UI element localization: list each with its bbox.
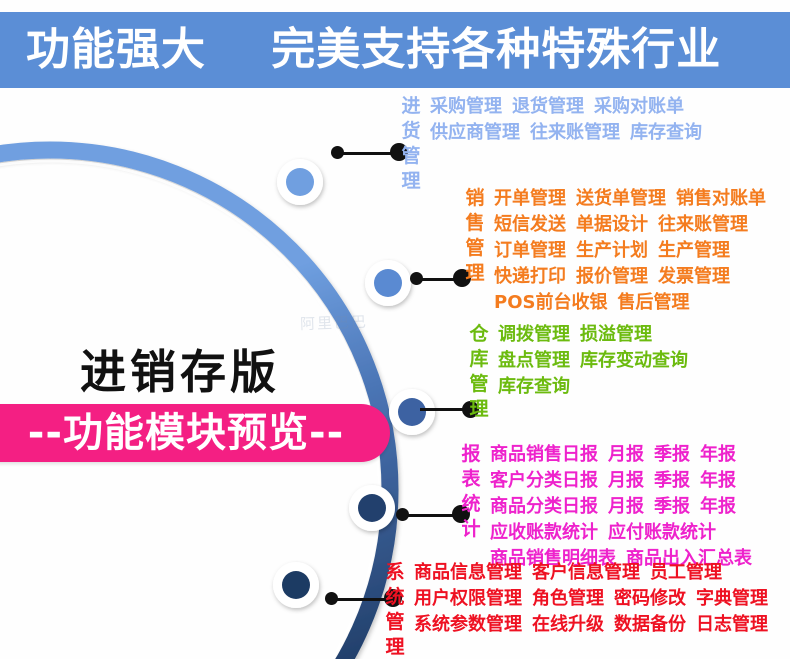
module-item[interactable]: 快递打印 <box>494 266 566 287</box>
module-row: 系统参数管理在线升级数据备份日志管理 <box>414 612 768 638</box>
module-item[interactable]: 售后管理 <box>617 292 689 313</box>
module-item[interactable]: 应收账款统计 <box>490 522 598 543</box>
module-row: 采购管理退货管理采购对账单 <box>430 94 702 120</box>
module-item[interactable]: 采购管理 <box>430 96 502 117</box>
module-item[interactable]: 开单管理 <box>494 188 566 209</box>
module-item[interactable]: 库存查询 <box>630 122 702 143</box>
module-item[interactable]: 在线升级 <box>532 614 604 635</box>
module-row: 用户权限管理角色管理密码修改字典管理 <box>414 586 768 612</box>
module-item[interactable]: 生产计划 <box>576 240 648 261</box>
module-items-reports: 商品销售日报月报季报年报客户分类日报月报季报年报商品分类日报月报季报年报应收账款… <box>490 442 752 572</box>
module-row: 客户分类日报月报季报年报 <box>490 468 752 494</box>
module-row: 调拨管理损溢管理 <box>498 322 688 348</box>
module-item[interactable]: 采购对账单 <box>594 96 684 117</box>
module-item[interactable]: 字典管理 <box>696 588 768 609</box>
module-row: 库存查询 <box>498 374 688 400</box>
module-item[interactable]: 销售对账单 <box>676 188 766 209</box>
module-items-sales: 开单管理送货单管理销售对账单短信发送单据设计往来账管理订单管理生产计划生产管理快… <box>494 186 766 316</box>
preview-band-label: --功能模块预览-- <box>0 411 398 455</box>
module-items-purchase: 采购管理退货管理采购对账单供应商管理往来账管理库存查询 <box>430 94 702 146</box>
module-item[interactable]: 系统参数管理 <box>414 614 522 635</box>
module-item[interactable]: 报价管理 <box>576 266 648 287</box>
module-item[interactable]: 应付账款统计 <box>608 522 716 543</box>
module-item[interactable]: 客户信息管理 <box>532 562 640 583</box>
module-item[interactable]: 年报 <box>700 470 736 491</box>
module-row: 供应商管理往来账管理库存查询 <box>430 120 702 146</box>
module-item[interactable]: 数据备份 <box>614 614 686 635</box>
module-item[interactable]: 供应商管理 <box>430 122 520 143</box>
module-item[interactable]: 短信发送 <box>494 214 566 235</box>
module-label-system: 系 统 管 理 <box>382 560 408 659</box>
module-row: 商品分类日报月报季报年报 <box>490 494 752 520</box>
module-group-sales: 销 售 管 理开单管理送货单管理销售对账单短信发送单据设计往来账管理订单管理生产… <box>462 186 766 316</box>
module-item[interactable]: 季报 <box>654 496 690 517</box>
module-item[interactable]: 库存查询 <box>498 376 570 397</box>
module-item[interactable]: 季报 <box>654 470 690 491</box>
module-item[interactable]: 盘点管理 <box>498 350 570 371</box>
module-item[interactable]: 年报 <box>700 496 736 517</box>
module-group-reports: 报 表 统 计商品销售日报月报季报年报客户分类日报月报季报年报商品分类日报月报季… <box>458 442 752 572</box>
module-items-system: 商品信息管理客户信息管理员工管理用户权限管理角色管理密码修改字典管理系统参数管理… <box>414 560 768 638</box>
module-item[interactable]: 库存变动查询 <box>580 350 688 371</box>
module-item[interactable]: 日志管理 <box>696 614 768 635</box>
product-title: 进销存版 <box>80 336 280 402</box>
module-row: 盘点管理库存变动查询 <box>498 348 688 374</box>
module-group-warehouse: 仓 库 管 理调拨管理损溢管理盘点管理库存变动查询库存查询 <box>466 322 688 422</box>
module-row: 商品信息管理客户信息管理员工管理 <box>414 560 768 586</box>
module-item[interactable]: 送货单管理 <box>576 188 666 209</box>
module-item[interactable]: 年报 <box>700 444 736 465</box>
module-item[interactable]: 调拨管理 <box>498 324 570 345</box>
module-item[interactable]: 密码修改 <box>614 588 686 609</box>
poster-canvas: 功能强大 完美支持各种特殊行业 <box>0 0 790 659</box>
module-item[interactable]: 退货管理 <box>512 96 584 117</box>
module-item[interactable]: 单据设计 <box>576 214 648 235</box>
module-item[interactable]: 往来账管理 <box>530 122 620 143</box>
module-item[interactable]: 角色管理 <box>532 588 604 609</box>
module-item[interactable]: 生产管理 <box>658 240 730 261</box>
module-item[interactable]: POS前台收银 <box>494 292 607 313</box>
module-item[interactable]: 发票管理 <box>658 266 730 287</box>
module-group-system: 系 统 管 理商品信息管理客户信息管理员工管理用户权限管理角色管理密码修改字典管… <box>382 560 768 659</box>
module-row: POS前台收银售后管理 <box>494 290 766 316</box>
module-row: 应收账款统计应付账款统计 <box>490 520 752 546</box>
module-item[interactable]: 往来账管理 <box>658 214 748 235</box>
module-item[interactable]: 损溢管理 <box>580 324 652 345</box>
module-item[interactable]: 商品销售日报 <box>490 444 598 465</box>
module-items-warehouse: 调拨管理损溢管理盘点管理库存变动查询库存查询 <box>498 322 688 400</box>
module-item[interactable]: 订单管理 <box>494 240 566 261</box>
module-item[interactable]: 用户权限管理 <box>414 588 522 609</box>
module-label-purchase: 进 货 管 理 <box>398 94 424 194</box>
module-row: 订单管理生产计划生产管理 <box>494 238 766 264</box>
module-row: 开单管理送货单管理销售对账单 <box>494 186 766 212</box>
module-item[interactable]: 客户分类日报 <box>490 470 598 491</box>
module-item[interactable]: 商品信息管理 <box>414 562 522 583</box>
module-item[interactable]: 月报 <box>608 496 644 517</box>
module-label-warehouse: 仓 库 管 理 <box>466 322 492 422</box>
module-row: 快递打印报价管理发票管理 <box>494 264 766 290</box>
module-item[interactable]: 季报 <box>654 444 690 465</box>
module-label-reports: 报 表 统 计 <box>458 442 484 542</box>
module-item[interactable]: 月报 <box>608 470 644 491</box>
module-row: 商品销售日报月报季报年报 <box>490 442 752 468</box>
module-item[interactable]: 员工管理 <box>650 562 722 583</box>
module-item[interactable]: 月报 <box>608 444 644 465</box>
watermark-text: 阿里巴巴 <box>300 311 369 334</box>
module-group-purchase: 进 货 管 理采购管理退货管理采购对账单供应商管理往来账管理库存查询 <box>398 94 702 194</box>
module-row: 短信发送单据设计往来账管理 <box>494 212 766 238</box>
module-label-sales: 销 售 管 理 <box>462 186 488 286</box>
module-item[interactable]: 商品分类日报 <box>490 496 598 517</box>
